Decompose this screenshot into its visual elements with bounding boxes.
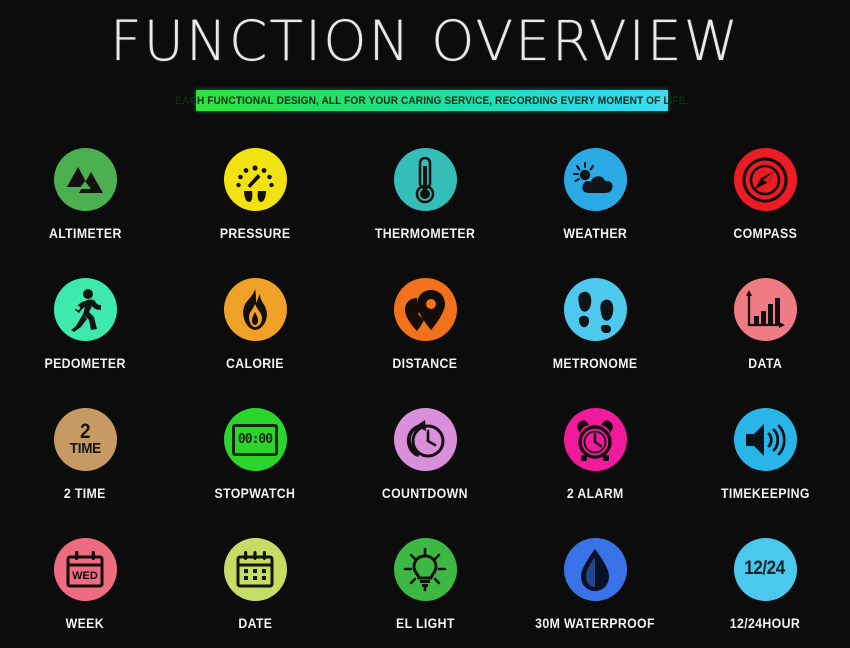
feature-item-data[interactable]: DATA bbox=[680, 258, 850, 388]
calendar-day-icon: WED bbox=[54, 538, 117, 601]
speaker-icon bbox=[734, 408, 797, 471]
feature-item-altimeter[interactable]: ALTIMETER bbox=[0, 128, 170, 258]
feature-item-calorie[interactable]: CALORIE bbox=[170, 258, 340, 388]
feature-grid: ALTIMETER PRESSURE bbox=[0, 128, 850, 648]
feature-item-pedometer[interactable]: PEDOMETER bbox=[0, 258, 170, 388]
digital-timer-icon: 00:00 bbox=[224, 408, 287, 471]
countdown-clock-icon bbox=[394, 408, 457, 471]
feature-label: 12/24HOUR bbox=[730, 615, 800, 631]
feature-item-compass[interactable]: COMPASS bbox=[680, 128, 850, 258]
thermometer-icon bbox=[394, 148, 457, 211]
feature-label: DISTANCE bbox=[393, 355, 458, 371]
feature-label: COUNTDOWN bbox=[382, 485, 468, 501]
feature-label: PEDOMETER bbox=[44, 355, 125, 371]
feature-item-2-alarm[interactable]: 2 ALARM bbox=[510, 388, 680, 518]
feature-item-stopwatch[interactable]: 00:00 STOPWATCH bbox=[170, 388, 340, 518]
feature-item-pressure[interactable]: PRESSURE bbox=[170, 128, 340, 258]
function-overview-page: FUNCTION OVERVIEW EACH FUNCTIONAL DESIGN… bbox=[0, 0, 850, 645]
flame-icon bbox=[224, 278, 287, 341]
feature-label: COMPASS bbox=[733, 225, 797, 241]
feature-label: ALTIMETER bbox=[49, 225, 122, 241]
feature-label: PRESSURE bbox=[220, 225, 291, 241]
feature-item-2-time[interactable]: 2 TIME 2 TIME bbox=[0, 388, 170, 518]
feature-label: THERMOMETER bbox=[375, 225, 475, 241]
feature-item-el-light[interactable]: EL LIGHT bbox=[340, 518, 510, 648]
feature-label: DATE bbox=[238, 615, 272, 631]
feature-item-timekeeping[interactable]: TIMEKEEPING bbox=[680, 388, 850, 518]
footprints-icon bbox=[564, 278, 627, 341]
feature-item-countdown[interactable]: COUNTDOWN bbox=[340, 388, 510, 518]
feature-label: 2 TIME bbox=[64, 485, 106, 501]
feature-item-distance[interactable]: DISTANCE bbox=[340, 258, 510, 388]
feature-item-date[interactable]: DATE bbox=[170, 518, 340, 648]
feature-label: WEATHER bbox=[563, 225, 627, 241]
hour-format-icon: 12/24 bbox=[734, 538, 797, 601]
water-drop-icon bbox=[564, 538, 627, 601]
map-pin-icon bbox=[394, 278, 457, 341]
feature-item-weather[interactable]: WEATHER bbox=[510, 128, 680, 258]
calendar-day-text: WED bbox=[72, 570, 98, 582]
alarm-clock-icon bbox=[564, 408, 627, 471]
feature-item-30m-waterproof[interactable]: 30M WATERPROOF bbox=[510, 518, 680, 648]
dual-time-number: 2 bbox=[69, 422, 100, 442]
feature-label: WEEK bbox=[66, 615, 104, 631]
tagline-text: EACH FUNCTIONAL DESIGN, ALL FOR YOUR CAR… bbox=[175, 95, 688, 107]
feature-label: TIMEKEEPING bbox=[721, 485, 810, 501]
page-title: FUNCTION OVERVIEW bbox=[0, 14, 850, 69]
feature-label: METRONOME bbox=[553, 355, 638, 371]
dual-time-word: TIME bbox=[69, 442, 100, 456]
feature-label: STOPWATCH bbox=[215, 485, 296, 501]
feature-label: EL LIGHT bbox=[396, 615, 455, 631]
sun-cloud-icon bbox=[564, 148, 627, 211]
feature-label: DATA bbox=[748, 355, 782, 371]
lightbulb-icon bbox=[394, 538, 457, 601]
stopwatch-display: 00:00 bbox=[232, 424, 278, 456]
dual-time-icon: 2 TIME bbox=[54, 408, 117, 471]
feature-label: 2 ALARM bbox=[567, 485, 624, 501]
runner-icon bbox=[54, 278, 117, 341]
feature-label: CALORIE bbox=[226, 355, 284, 371]
mountain-icon bbox=[54, 148, 117, 211]
bar-chart-icon bbox=[734, 278, 797, 341]
feature-item-metronome[interactable]: METRONOME bbox=[510, 258, 680, 388]
calendar-grid-icon bbox=[224, 538, 287, 601]
hour-format-text: 12/24 bbox=[745, 560, 786, 578]
barometer-icon bbox=[224, 148, 287, 211]
feature-item-week[interactable]: WED WEEK bbox=[0, 518, 170, 648]
feature-label: 30M WATERPROOF bbox=[535, 615, 655, 631]
tagline-banner: EACH FUNCTIONAL DESIGN, ALL FOR YOUR CAR… bbox=[196, 90, 668, 111]
compass-icon bbox=[734, 148, 797, 211]
feature-item-thermometer[interactable]: THERMOMETER bbox=[340, 128, 510, 258]
feature-item-12-24-hour[interactable]: 12/24 12/24HOUR bbox=[680, 518, 850, 648]
